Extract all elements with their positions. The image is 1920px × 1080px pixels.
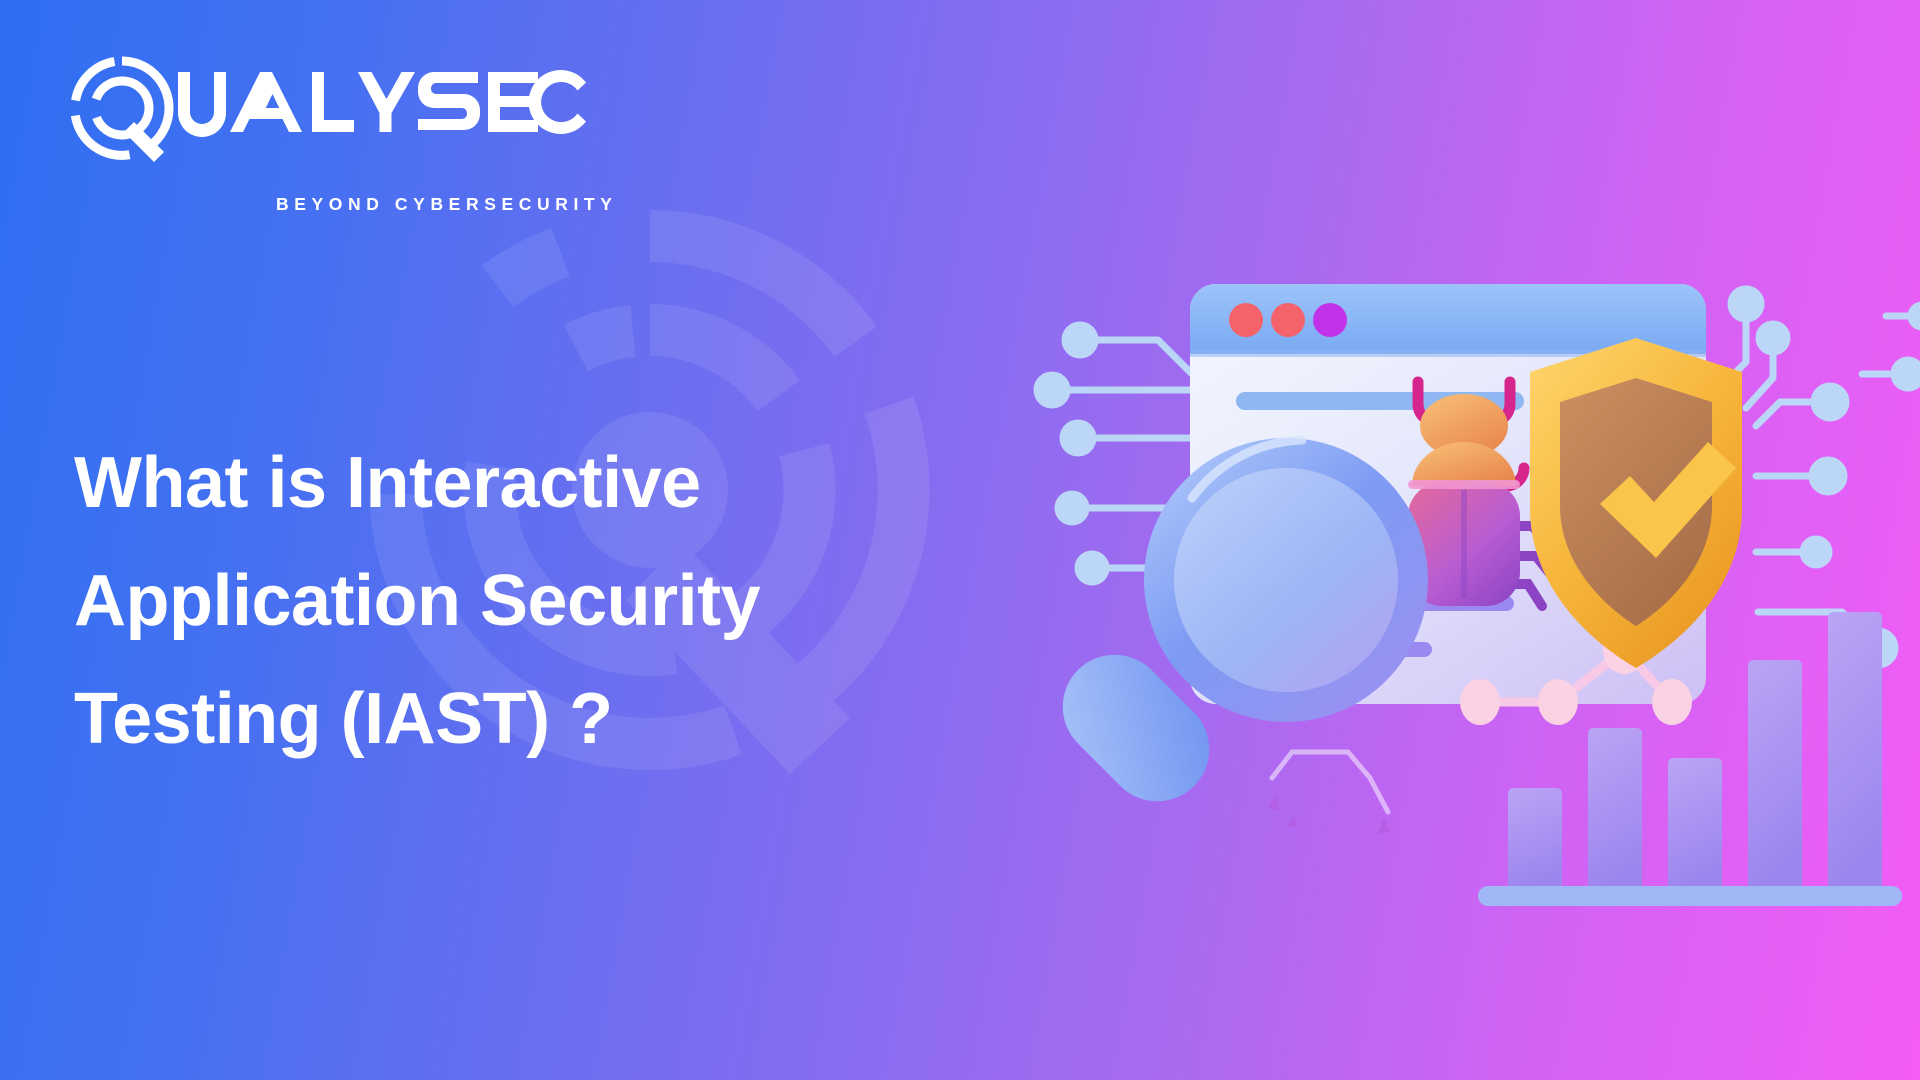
qualysec-q-magnifier-icon: [68, 54, 176, 162]
chart-bar-3: [1668, 758, 1722, 890]
page-title: What is Interactive Application Security…: [74, 424, 1094, 778]
chart-bar-2: [1588, 728, 1642, 890]
brand-wordmark: [176, 66, 588, 138]
window-dot-red-2: [1271, 303, 1305, 337]
chart-bar-1: [1508, 788, 1562, 890]
hero-banner: BEYOND CYBERSECURITY What is Interactive…: [0, 0, 1920, 1080]
headline-line-1: What is Interactive: [74, 424, 1094, 542]
chart-bar-4: [1748, 660, 1802, 890]
chart-baseline: [1478, 886, 1902, 906]
brand-logo[interactable]: BEYOND CYBERSECURITY: [68, 52, 588, 172]
headline-line-2: Application Security: [74, 542, 1094, 660]
chart-bar-5: [1828, 612, 1882, 890]
circuit-trace-nodes-right: [1718, 289, 1920, 665]
headline-line-3: Testing (IAST) ?: [74, 660, 1094, 778]
iast-security-scanning-illustration: [1040, 250, 1920, 870]
brand-tagline: BEYOND CYBERSECURITY: [276, 194, 617, 215]
magnifying-glass-icon: [1041, 438, 1428, 823]
window-dot-red: [1229, 303, 1263, 337]
window-dot-purple: [1313, 303, 1347, 337]
window-dots: [1229, 303, 1347, 337]
